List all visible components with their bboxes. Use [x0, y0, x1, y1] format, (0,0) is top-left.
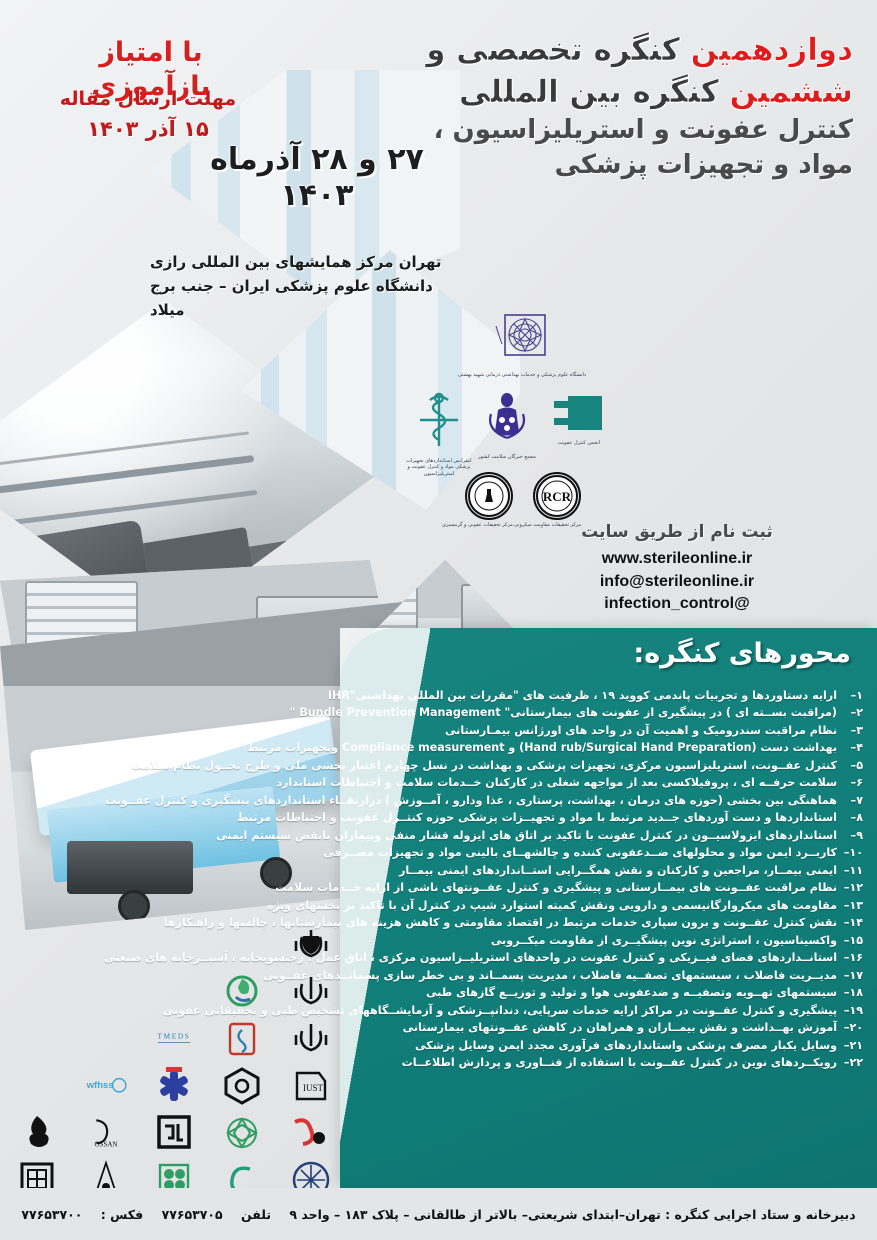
footer-office-address: دبیرخانه و ستاد اجرایی کنگره : تهران–ابت… — [289, 1207, 855, 1222]
topic-number: ۳– — [837, 725, 863, 736]
congress-title: دوازدهمین کنگره تخصصی و ششمین کنگره بین … — [383, 30, 853, 183]
iran-emblem-icon — [289, 924, 333, 966]
logo-caption: مجمع خبرگان سلامت کشور — [478, 454, 536, 460]
jrc-icon — [289, 1112, 333, 1154]
topic-text: کاربــرد ایمن مواد و محلولهای ضــدعفونی … — [323, 846, 837, 859]
topic-item: ۱۷–مدیــریت فاضلاب ، سیستمهای تصفــیه فا… — [288, 970, 869, 981]
logo-health-experts-assembly: مجمع خبرگان سلامت کشور — [478, 390, 536, 460]
topic-item: ۱۶–استانــداردهای فضای فیــزیکی و کنترل … — [288, 952, 869, 963]
iran-emblem-icon — [289, 1018, 333, 1060]
topic-text: سلامت حرفــه ای ، پروفیلاکسی بعد از مواج… — [276, 776, 837, 789]
flame-emblem-icon — [15, 1112, 59, 1154]
logo-infection-control-association: انجمن کنترل عفونت — [552, 392, 606, 446]
deadline-date: ۱۵ آذر ۱۴۰۳ — [30, 114, 266, 144]
wfhss-wordmark-icon: wfhss — [84, 1075, 128, 1097]
topic-text: رویکــردهای نوین در کنترل عفــونت با است… — [402, 1056, 837, 1069]
topic-number: ۲– — [837, 707, 863, 718]
topic-number: ۱۴– — [837, 917, 863, 928]
topic-item: ۸–استانداردها و دست آوردهای جــدید مرتبط… — [288, 812, 869, 823]
registration-block: ثبت نام از طریق سایت www.sterileonline.i… — [547, 522, 807, 616]
logo-caption: انجمن کنترل عفونت — [552, 440, 606, 446]
footer-fax-label: فکس : — [101, 1207, 143, 1222]
footer-phone-label: تلفن — [241, 1207, 271, 1222]
registration-title: ثبت نام از طریق سایت — [547, 522, 807, 542]
topic-text: استانداردها و دست آوردهای جــدید مرتبط ب… — [237, 811, 837, 824]
tmeds-wordmark-icon: TMEDS — [152, 1028, 196, 1050]
title-line-1: دوازدهمین کنگره تخصصی و — [383, 30, 853, 72]
congress-topics-panel: محورهای کنگره: ۱–ارایه دستاوردها و تجربی… — [340, 628, 877, 1188]
footer-fax: ۷۷۶۵۳۷۰۰ — [21, 1207, 82, 1222]
standards-hexagon-icon — [220, 1065, 264, 1107]
caduceus-icon — [412, 390, 466, 452]
topic-item: ۶–سلامت حرفــه ای ، پروفیلاکسی بعد از مو… — [288, 777, 869, 788]
logo-green-mandala-logo — [220, 1112, 264, 1154]
topic-item: ۲۲–رویکــردهای نوین در کنترل عفــونت با … — [288, 1057, 869, 1068]
rcr-seal-icon: RCR — [533, 472, 581, 520]
deadline-label: مهلت ارسال مقاله — [30, 86, 266, 114]
svg-text:RCR: RCR — [543, 489, 572, 504]
topics-heading: محورهای کنگره: — [633, 638, 851, 669]
svg-text:IUST: IUST — [303, 1083, 324, 1093]
topic-text: بهداشت دست (Hand rub/Surgical Hand Prepa… — [247, 741, 837, 754]
topic-number: ۱۱– — [837, 865, 863, 876]
logo-tehran-university-emblem — [289, 971, 333, 1013]
svg-text:OSSAN: OSSAN — [94, 1141, 117, 1149]
topic-number: ۷– — [837, 795, 863, 806]
topic-item: ۲۰–آموزش بهــداشت و نقش بیمــاران و همرا… — [288, 1022, 869, 1033]
topic-item: ۲–(مراقبت بســته ای ) در پیشگیری از عفون… — [288, 707, 869, 718]
topic-item: ۲۱–وسایل یکبار مصرف پزشکی واستانداردهای … — [288, 1040, 869, 1051]
logo-research-center-seal-1: مرکز تحقیقات عفونی و گرمسیری — [442, 472, 513, 528]
event-date-line-1: ۲۷ و ۲۸ آذرماه — [182, 142, 452, 178]
title-ordinal-sixth: ششمین — [730, 74, 853, 110]
title-ordinal-twelfth: دوازدهمین — [691, 32, 853, 68]
topic-text: واکسیناسیون ، استراتژی نوین پیشگیــری از… — [491, 934, 837, 947]
topic-item: ۱۹–پیشگیری و کنترل عفــونت در مراکز ارای… — [288, 1005, 869, 1016]
topic-item: ۱۲–نظام مراقبت عفــونت های بیمــارستانی … — [288, 882, 869, 893]
topic-number: ۲۰– — [837, 1022, 863, 1033]
iran-emblem-icon — [289, 971, 333, 1013]
organizer-logos: دانشگاه علوم پزشکی و خدمات بهداشتی درمان… — [400, 312, 610, 537]
topic-item: ۳–نظام مراقبت سندرومیک و اهمیت آن در واح… — [288, 725, 869, 736]
topic-number: ۲۲– — [837, 1057, 863, 1068]
topic-text: استانداردهای ایزولاسیــون در کنترل عفونت… — [216, 829, 837, 842]
green-leaf-icon — [220, 971, 264, 1013]
topic-text: مدیــریت فاضلاب ، سیستمهای تصفــیه فاضلا… — [263, 969, 837, 982]
topic-text: آموزش بهــداشت و نقش بیمــاران و همراهان… — [403, 1021, 837, 1034]
topic-number: ۹– — [837, 830, 863, 841]
topic-number: ۲۱– — [837, 1040, 863, 1051]
ossan-icon: OSSAN — [84, 1115, 128, 1150]
venue-line-1: تهران مرکز همایشهای بین المللی رازی — [150, 250, 450, 274]
title-subject-line-1: کنترل عفونت و استریلیزاسیون ، — [383, 113, 853, 148]
topic-number: ۱۸– — [837, 987, 863, 998]
topic-text: سیستمهای تهــویه وتصفیــه و ضدعفونی هوا … — [426, 986, 837, 999]
registration-email-1[interactable]: info@sterileonline.ir — [547, 571, 807, 594]
topic-number: ۱۶– — [837, 952, 863, 963]
event-date: ۲۷ و ۲۸ آذرماه ۱۴۰۳ — [182, 142, 452, 214]
logo-ossan-logo: OSSAN — [84, 1112, 128, 1154]
logo-standards-organization-logo — [220, 1065, 264, 1107]
topic-item: ۱۸–سیستمهای تهــویه وتصفیــه و ضدعفونی ه… — [288, 987, 869, 998]
topic-text: نظام مراقبت سندرومیک و اهمیت آن در واحد … — [445, 724, 837, 737]
registration-email-2[interactable]: infection_control@ — [547, 593, 807, 616]
submission-deadline: مهلت ارسال مقاله ۱۵ آذر ۱۴۰۳ — [30, 86, 266, 144]
footer-contact: دبیرخانه و ستاد اجرایی کنگره : تهران–ابت… — [14, 1207, 862, 1222]
logo-caption: مرکز تحقیقات عفونی و گرمسیری — [442, 522, 513, 528]
mandala-icon — [492, 312, 552, 366]
topic-item: ۱۳–مقاومت های میکروارگانیسمی و دارویی ون… — [288, 900, 869, 911]
logo-shahid-beheshti-university: دانشگاه علوم پزشکی و خدمات بهداشتی درمان… — [458, 312, 586, 378]
topic-number: ۱۲– — [837, 882, 863, 893]
logo-ministry-health-treatment-emblem — [289, 1018, 333, 1060]
calligraphy-square-icon — [152, 1112, 196, 1154]
title-line-2: ششمین کنگره بین المللی — [383, 72, 853, 114]
topic-item: ۱۵–واکسیناسیون ، استراتژی نوین پیشگیــری… — [288, 935, 869, 946]
event-date-line-2: ۱۴۰۳ — [182, 178, 452, 214]
logo-green-health-logo — [220, 971, 264, 1013]
topic-text: وسایل یکبار مصرف پزشکی واستانداردهای فرآ… — [415, 1039, 837, 1052]
logo-sterilization-association: کنفرانس استانداردهای تجهیزات پزشکی مواد … — [400, 390, 478, 477]
registration-website[interactable]: www.sterileonline.ir — [547, 548, 807, 571]
logo-tmeds-logo: TMEDS — [152, 1018, 196, 1060]
logo-caption: دانشگاه علوم پزشکی و خدمات بهداشتی درمان… — [458, 372, 586, 378]
footer-phone: ۷۷۶۵۳۷۰۵ — [162, 1207, 223, 1222]
topic-number: ۶– — [837, 777, 863, 788]
footer-bar: دبیرخانه و ستاد اجرایی کنگره : تهران–ابت… — [0, 1188, 877, 1240]
topic-item: ۷–هماهنگی بین بخشی (حوزه های درمان ، بهد… — [288, 795, 869, 806]
title-line-2-rest: کنگره بین المللی — [459, 74, 719, 110]
topic-text: نظام مراقبت عفــونت های بیمــارستانی و پ… — [275, 881, 837, 894]
logo-wfhss-logo: wfhss — [84, 1065, 128, 1107]
topic-item: ۱۴–نقش کنترل عفــونت و برون سپاری خدمات … — [288, 917, 869, 928]
topic-item: ۵–کنترل عفــونت، استریلیزاسیون مرکزی، تج… — [288, 760, 869, 771]
star-of-life-icon — [152, 1065, 196, 1107]
topics-list: ۱–ارایه دستاوردها و تجربیات پاندمی کووید… — [288, 690, 869, 1075]
logo-jrc-logo — [289, 1112, 333, 1154]
topic-item: ۹–استانداردهای ایزولاسیــون در کنترل عفو… — [288, 830, 869, 841]
topic-text: (مراقبت بســته ای ) در پیشگیری از عفونت … — [290, 706, 837, 719]
wreath-figure-icon — [478, 390, 536, 448]
logo-ministry-of-health-emblem — [289, 924, 333, 966]
topic-item: ۱۰–کاربــرد ایمن مواد و محلولهای ضــدعفو… — [288, 847, 869, 858]
topic-number: ۱۰– — [837, 847, 863, 858]
title-subject-line-2: مواد و تجهیزات پزشکی — [383, 148, 853, 183]
circular-seal-icon — [465, 472, 513, 520]
topic-item: ۴–بهداشت دست (Hand rub/Surgical Hand Pre… — [288, 742, 869, 753]
logo-medical-equipment-logo — [220, 1018, 264, 1060]
topic-number: ۱۷– — [837, 970, 863, 981]
svg-text:wfhss: wfhss — [85, 1080, 113, 1091]
topic-number: ۱۳– — [837, 900, 863, 911]
topic-number: ۱۹– — [837, 1005, 863, 1016]
svg-text:TMEDS: TMEDS — [158, 1031, 191, 1040]
logo-research-center-seal-rcr: RCR مرکز تحقیقات مقاومت میکروبی — [514, 472, 581, 528]
poster-root: با امتیاز بازآموزی مهلت ارسال مقاله ۱۵ آ… — [0, 0, 877, 1240]
topic-number: ۵– — [837, 760, 863, 771]
iust-icon: IUST — [289, 1065, 333, 1107]
topic-text: ارایه دستاوردها و تجربیات پاندمی کووید ۱… — [328, 689, 837, 702]
green-mandala-icon — [220, 1112, 264, 1154]
sponsor-logo-grid: TMEDS IUST wfhss OSSAN — [4, 922, 344, 1194]
logo-flame-emblem-logo — [15, 1112, 59, 1154]
topic-text: ایمنی بیمــار، مراجعین و کارکنان و نقش ه… — [399, 864, 837, 877]
title-line-1-rest: کنگره تخصصی و — [426, 32, 680, 68]
logo-iust-logo: IUST — [289, 1065, 333, 1107]
infection-control-icon — [552, 392, 606, 434]
topic-number: ۱– — [837, 690, 863, 701]
topic-number: ۱۵– — [837, 935, 863, 946]
topic-item: ۱۱–ایمنی بیمــار، مراجعین و کارکنان و نق… — [288, 865, 869, 876]
topic-text: کنترل عفــونت، استریلیزاسیون مرکزی، تجهی… — [132, 759, 837, 772]
medical-equipment-icon — [220, 1018, 264, 1060]
logo-emergency-organization-logo — [152, 1065, 196, 1107]
topic-text: مقاومت های میکروارگانیسمی و دارویی ونقش … — [267, 899, 837, 912]
logo-black-square-calligraphy-logo — [152, 1112, 196, 1154]
topic-item: ۱–ارایه دستاوردها و تجربیات پاندمی کووید… — [288, 690, 869, 701]
topic-number: ۸– — [837, 812, 863, 823]
topic-number: ۴– — [837, 742, 863, 753]
topic-text: هماهنگی بین بخشی (حوزه های درمان ، بهداش… — [105, 794, 837, 807]
